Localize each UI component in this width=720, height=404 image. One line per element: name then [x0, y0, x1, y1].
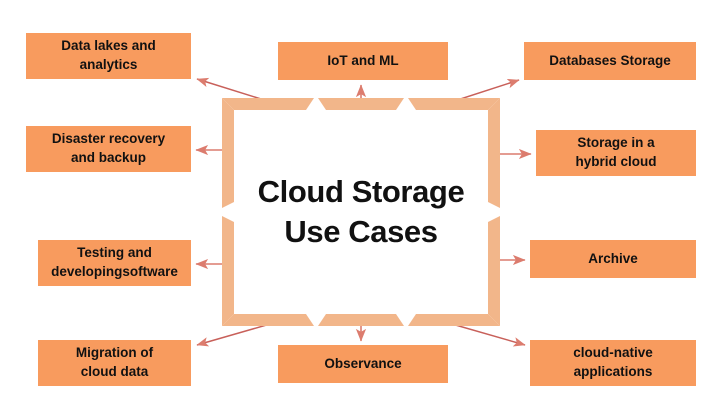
usecase-box-observance[interactable]: Observance — [278, 345, 448, 383]
usecase-box-hybrid-cloud[interactable]: Storage in a hybrid cloud — [536, 130, 696, 176]
usecase-box-databases-storage[interactable]: Databases Storage — [524, 42, 696, 80]
usecase-box-disaster-recovery[interactable]: Disaster recovery and backup — [26, 126, 191, 172]
usecase-box-iot-ml[interactable]: IoT and ML — [278, 42, 448, 80]
usecase-box-data-lakes[interactable]: Data lakes and analytics — [26, 33, 191, 79]
usecase-box-archive[interactable]: Archive — [530, 240, 696, 278]
usecase-box-testing-developing-software[interactable]: Testing and developingsoftware — [38, 240, 191, 286]
usecase-box-migration-cloud-data[interactable]: Migration of cloud data — [38, 340, 191, 386]
diagram-canvas: Cloud Storage Use Cases Data lakes and a… — [0, 0, 720, 404]
usecase-box-cloud-native-applications[interactable]: cloud-native applications — [530, 340, 696, 386]
center-title: Cloud Storage Use Cases — [222, 98, 500, 326]
